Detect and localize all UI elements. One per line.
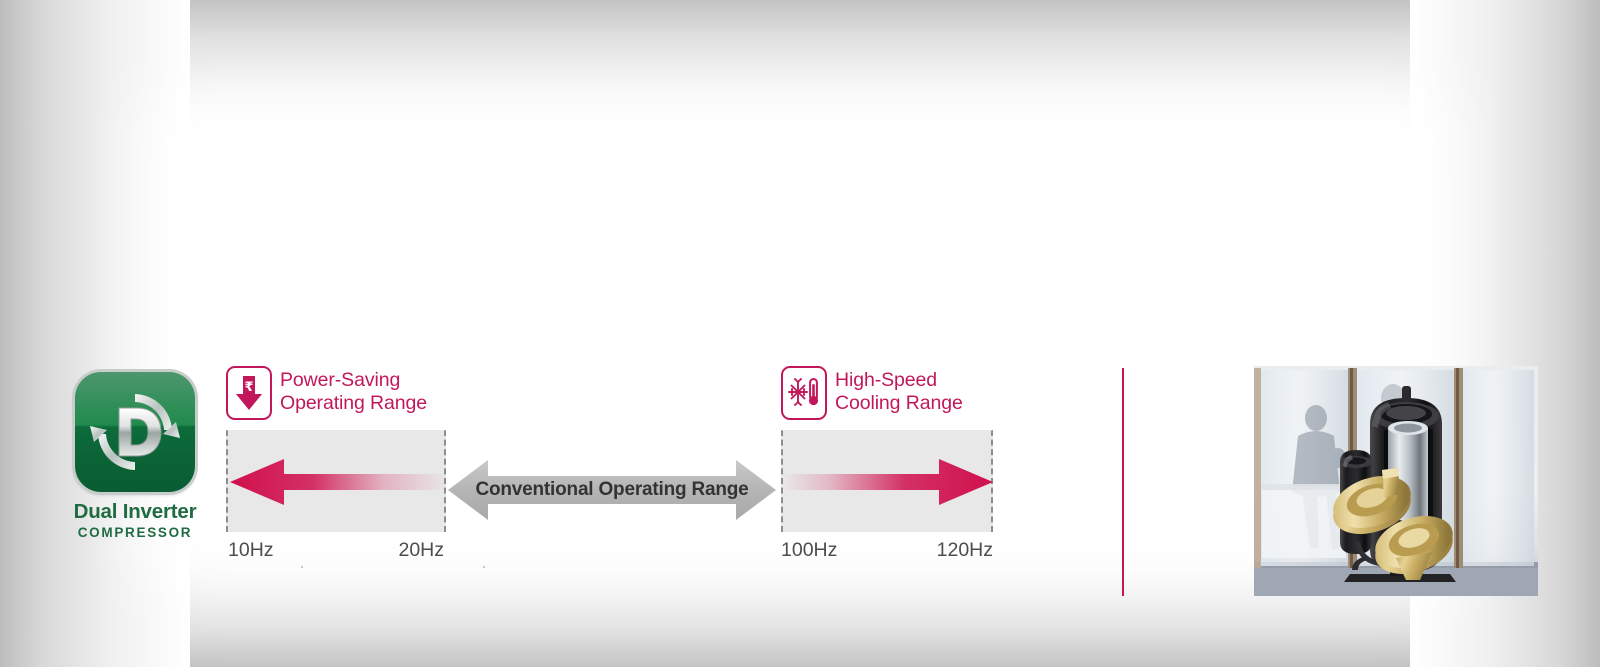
dual-inverter-compressor-photo — [1254, 366, 1538, 596]
page-canvas: Dual Inverter COMPRESSOR ₹ Power-Saving … — [0, 0, 1600, 667]
dual-inverter-badge: Dual Inverter COMPRESSOR — [56, 372, 214, 540]
tick-dot-2 — [483, 566, 485, 568]
background-gradient-top — [0, 0, 1600, 150]
power-saving-label-line2: Operating Range — [280, 392, 427, 415]
badge-subtitle: COMPRESSOR — [56, 525, 214, 540]
vertical-crimson-divider — [1122, 368, 1124, 596]
power-saving-min-label: 10Hz — [228, 539, 274, 562]
background-gradient-left — [0, 0, 190, 667]
power-saving-range-group: ₹ Power-Saving Operating Range — [226, 366, 446, 562]
rupee-down-arrow-icon: ₹ — [226, 366, 272, 420]
dual-inverter-compressor-badge-icon — [75, 372, 195, 492]
snowflake-thermometer-icon — [781, 366, 827, 420]
high-speed-cooling-range-group: High-Speed Cooling Range 100Hz 120Hz — [781, 366, 993, 562]
high-speed-cooling-header: High-Speed Cooling Range — [781, 366, 993, 424]
high-speed-cooling-min-label: 100Hz — [781, 539, 837, 562]
power-saving-label-line1: Power-Saving — [280, 369, 427, 392]
tick-dot-1 — [301, 566, 303, 568]
power-saving-left-arrow — [228, 459, 448, 505]
high-speed-cooling-label-line1: High-Speed — [835, 369, 963, 392]
conventional-operating-range-label: Conventional Operating Range — [446, 452, 778, 528]
high-speed-cooling-label: High-Speed Cooling Range — [835, 366, 963, 415]
power-saving-max-label: 20Hz — [398, 539, 444, 562]
power-saving-hz-row: 10Hz 20Hz — [226, 539, 446, 562]
high-speed-cooling-label-line2: Cooling Range — [835, 392, 963, 415]
svg-text:₹: ₹ — [244, 380, 253, 395]
power-saving-label: Power-Saving Operating Range — [280, 366, 427, 415]
high-speed-cooling-panel — [781, 430, 993, 532]
high-speed-cooling-max-label: 120Hz — [937, 539, 993, 562]
badge-arrows-and-letter — [75, 372, 195, 492]
high-speed-cooling-hz-row: 100Hz 120Hz — [781, 539, 993, 562]
power-saving-header: ₹ Power-Saving Operating Range — [226, 366, 446, 424]
badge-title: Dual Inverter — [56, 501, 214, 523]
high-speed-cooling-right-arrow — [783, 459, 995, 505]
power-saving-panel — [226, 430, 446, 532]
conventional-operating-range: Conventional Operating Range — [446, 452, 778, 528]
